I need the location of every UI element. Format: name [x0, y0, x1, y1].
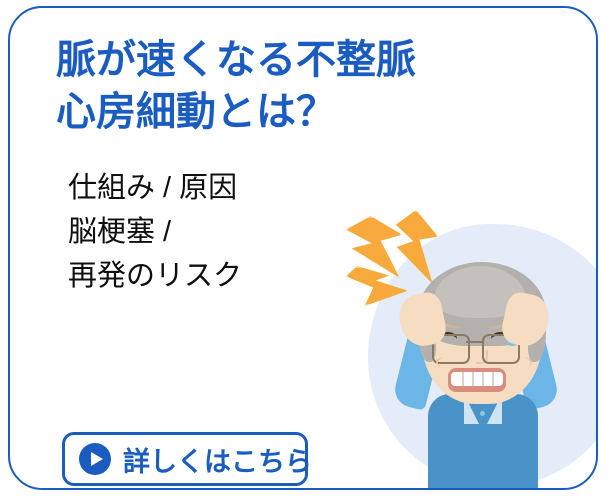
banner-title-line-1: 脈が速くなる不整脈	[56, 34, 476, 86]
tooth-gap	[462, 372, 464, 386]
tooth-gap	[482, 372, 484, 386]
shirt-button	[480, 411, 485, 416]
promo-banner: 脈が速くなる不整脈 心房細動とは？ 仕組み / 原因 脳梗塞 / 再発のリスク …	[0, 0, 610, 500]
eyeglasses-bridge	[466, 341, 482, 343]
banner-subtitle-line-1: 仕組み / 原因	[68, 166, 242, 210]
teeth	[451, 372, 503, 386]
banner-subtitle: 仕組み / 原因 脳梗塞 / 再発のリスク	[68, 166, 242, 298]
banner-title: 脈が速くなる不整脈 心房細動とは？	[56, 34, 476, 138]
play-circle-icon[interactable]	[79, 443, 111, 475]
banner-frame: 脈が速くなる不整脈 心房細動とは？ 仕組み / 原因 脳梗塞 / 再発のリスク …	[8, 6, 598, 490]
tooth-gap	[492, 372, 494, 386]
distressed-elderly-man-illustration	[340, 208, 598, 490]
banner-subtitle-line-3: 再発のリスク	[68, 254, 242, 298]
clenched-teeth-mouth	[448, 368, 506, 392]
banner-title-line-2: 心房細動とは？	[56, 86, 476, 138]
banner-subtitle-line-2: 脳梗塞 /	[68, 210, 242, 254]
details-cta-button[interactable]: 詳しくはこちら	[62, 432, 308, 486]
tooth-gap	[472, 372, 474, 386]
details-cta-label: 詳しくはこちら	[123, 440, 312, 479]
